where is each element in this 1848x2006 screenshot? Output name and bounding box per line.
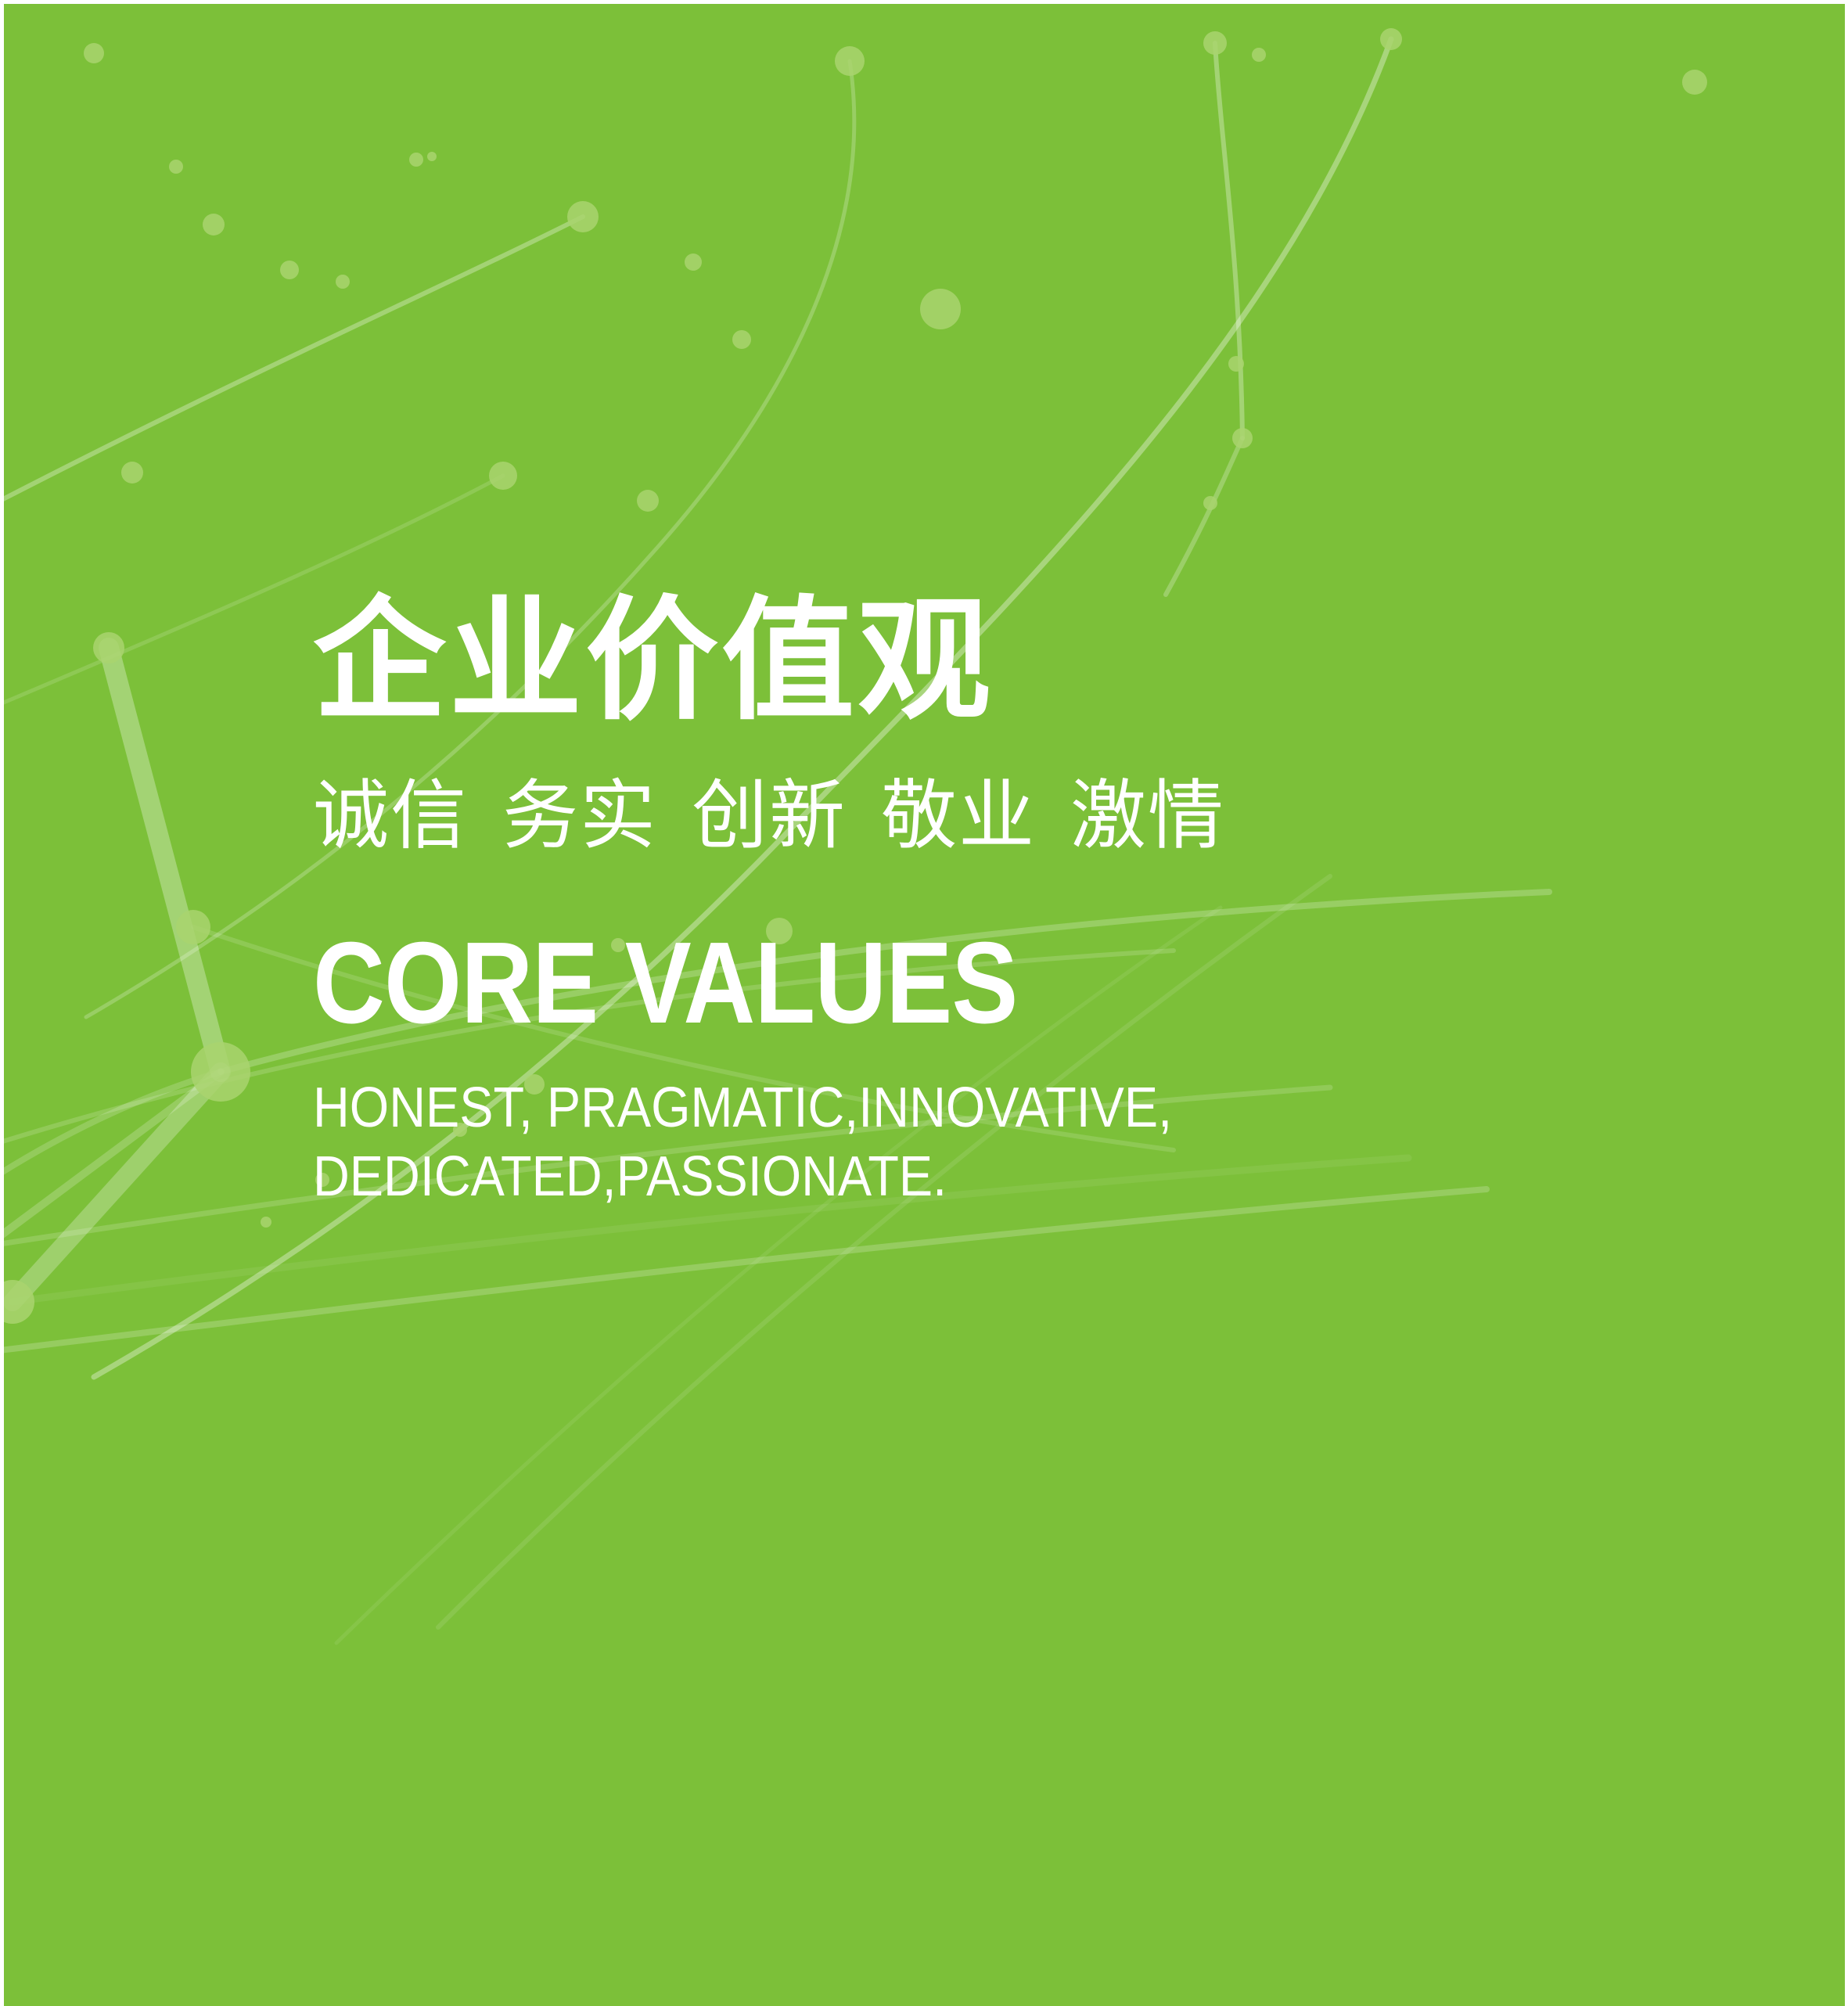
value-item-4: 敬业	[881, 773, 1036, 858]
right-edge-strip	[1845, 0, 1848, 2006]
value-item-2: 务实	[502, 773, 657, 858]
left-edge-strip	[0, 0, 4, 2006]
core-values-poster: 企业价值观 诚信务实创新敬业激情 CORE VALUES HONEST, PRA…	[0, 0, 1848, 2006]
value-item-1: 诚信	[313, 773, 468, 858]
description-line-2: DEDICATED,PASSIONATE.	[313, 1143, 1172, 1212]
page-title-cn: 企业价值观	[313, 595, 1267, 728]
core-values-list-cn: 诚信务实创新敬业激情	[313, 778, 1267, 854]
description-en: HONEST, PRAGMATIC,INNOVATIVE,DEDICATED,P…	[313, 1074, 1172, 1212]
description-line-1: HONEST, PRAGMATIC,INNOVATIVE,	[313, 1077, 1172, 1139]
text-content: 企业价值观 诚信务实创新敬业激情 CORE VALUES HONEST, PRA…	[313, 595, 1267, 1212]
value-item-3: 创新	[692, 773, 847, 858]
value-item-5: 激情	[1070, 773, 1225, 858]
page-title-en: CORE VALUES	[313, 926, 1134, 1041]
top-edge-strip	[0, 0, 1848, 4]
